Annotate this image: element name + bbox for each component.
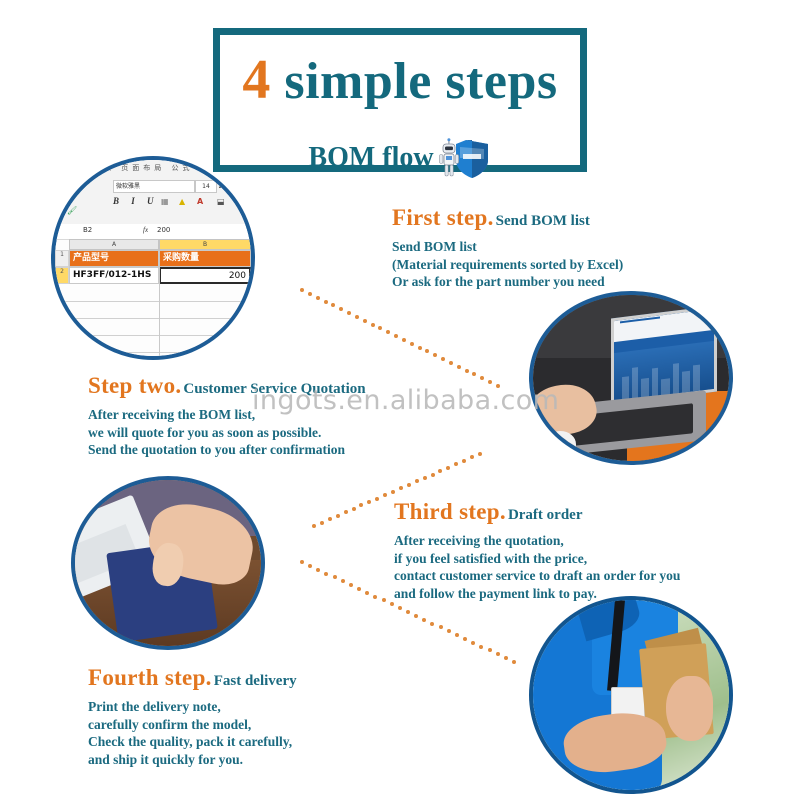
step-one-line-1: Send BOM list xyxy=(392,238,623,256)
connector-dot xyxy=(394,334,398,338)
connector-dot xyxy=(422,618,426,622)
title-subtitle-text: BOM flow xyxy=(308,141,433,175)
connector-dot xyxy=(312,524,316,528)
connector-dot xyxy=(446,466,450,470)
excel-row-number-1[interactable]: 1 xyxy=(55,250,69,267)
connector-dot xyxy=(463,637,467,641)
step-one-subtitle: Send BOM list xyxy=(496,213,590,229)
excel-grow-font-icon[interactable]: A xyxy=(219,181,225,190)
laptop-screen xyxy=(611,305,717,404)
connector-dot xyxy=(347,311,351,315)
site-watermark: ingots.en.alibaba.com xyxy=(252,385,559,416)
connector-dot xyxy=(382,598,386,602)
connector-dot xyxy=(355,315,359,319)
connector-dot xyxy=(308,564,312,568)
poster-canvas: 4 simple steps BOM flow xyxy=(0,0,800,800)
connector-dot xyxy=(406,610,410,614)
excel-font-size-input[interactable]: 14 xyxy=(195,180,217,193)
connector-dot xyxy=(488,380,492,384)
step-four-block: Fourth step. Fast delivery Print the del… xyxy=(88,666,297,768)
excel-cell-a1[interactable]: 产品型号 xyxy=(69,250,159,267)
connector-dot xyxy=(316,568,320,572)
connector-dot xyxy=(414,614,418,618)
step-four-line-2: carefully confirm the model, xyxy=(88,716,297,734)
step-one-heading: First step. Send BOM list xyxy=(392,206,623,229)
connector-dot xyxy=(449,361,453,365)
connector-dot xyxy=(328,517,332,521)
excel-formula-bar: B2 fx 200 xyxy=(55,224,251,240)
connector-dot xyxy=(331,303,335,307)
step-four-line-3: Check the quality, pack it carefully, xyxy=(88,733,297,751)
connector-dot xyxy=(365,591,369,595)
connector-dot xyxy=(430,622,434,626)
connector-dot xyxy=(441,357,445,361)
connector-dot xyxy=(357,587,361,591)
courier-hand xyxy=(666,676,713,741)
connector-dot xyxy=(378,326,382,330)
step-four-line-4: and ship it quickly for you. xyxy=(88,751,297,769)
connector-dot xyxy=(373,595,377,599)
connector-dot xyxy=(438,469,442,473)
step-one-block: First step. Send BOM list Send BOM list … xyxy=(392,206,623,291)
connector-dot xyxy=(391,490,395,494)
excel-empty-row[interactable] xyxy=(55,284,251,302)
connector-dot xyxy=(324,572,328,576)
connector-step1-to-step2 xyxy=(300,288,530,398)
hands-typing-on-laptop-photo xyxy=(533,295,729,461)
excel-ribbon: 插入 页面布局 公式 数据 ✂ ⧉ 🖌 微软雅黑 14 A A B I U ▦ … xyxy=(55,160,251,225)
connector-dot xyxy=(341,579,345,583)
excel-merge-icon[interactable]: ⬓ xyxy=(217,197,225,206)
connector-dot xyxy=(383,493,387,497)
excel-row-number-2[interactable]: 2 xyxy=(55,267,69,284)
excel-name-box[interactable]: B2 xyxy=(83,226,92,234)
coffee-cup xyxy=(545,431,576,458)
step-four-heading: Fourth step. Fast delivery xyxy=(88,666,297,689)
connector-dot xyxy=(439,625,443,629)
connector-dot xyxy=(496,652,500,656)
connector-dot xyxy=(512,660,516,664)
connector-dot xyxy=(407,483,411,487)
connector-dot xyxy=(425,349,429,353)
connector-dot xyxy=(320,521,324,525)
excel-empty-row[interactable] xyxy=(55,301,251,319)
connector-step3-to-step4 xyxy=(300,560,540,670)
connector-dot xyxy=(300,288,304,292)
excel-column-headers: A B xyxy=(55,239,251,250)
excel-ribbon-tabs[interactable]: 插入 页面布局 公式 数据 xyxy=(93,163,222,173)
connector-dot xyxy=(333,575,337,579)
excel-column-header-a[interactable]: A xyxy=(69,239,159,250)
excel-ribbon-body: ✂ ⧉ 🖌 微软雅黑 14 A A B I U ▦ ▲ A ⬓ ≡ xyxy=(67,176,247,214)
title-subtitle: BOM flow xyxy=(213,135,587,181)
connector-dot xyxy=(472,372,476,376)
connector-dot xyxy=(410,342,414,346)
excel-window: 插入 页面布局 公式 数据 ✂ ⧉ 🖌 微软雅黑 14 A A B I U ▦ … xyxy=(55,160,251,356)
excel-cell-b2[interactable]: 200 xyxy=(159,267,251,284)
excel-column-header-b[interactable]: B xyxy=(159,239,251,250)
robot-shield-icon xyxy=(436,135,492,181)
connector-dot xyxy=(471,641,475,645)
step-four-subtitle: Fast delivery xyxy=(214,673,297,689)
step-three-subtitle: Draft order xyxy=(508,507,583,523)
connector-dot xyxy=(455,633,459,637)
connector-dot xyxy=(367,500,371,504)
excel-fill-color-icon[interactable]: ▲ xyxy=(179,197,185,206)
connector-dot xyxy=(457,365,461,369)
page-title: 4 simple steps xyxy=(213,52,587,110)
delivery-scene xyxy=(533,600,729,790)
connector-dot xyxy=(375,497,379,501)
connector-dot xyxy=(339,307,343,311)
title-main-text: simple steps xyxy=(284,53,557,110)
excel-formula-input[interactable]: 200 xyxy=(157,226,170,234)
connector-dot xyxy=(418,346,422,350)
connector-dot xyxy=(402,338,406,342)
connector-dot xyxy=(349,583,353,587)
connector-dot xyxy=(470,455,474,459)
title-number: 4 xyxy=(242,49,271,111)
connector-dot xyxy=(352,507,356,511)
connector-dot xyxy=(504,656,508,660)
connector-dot xyxy=(300,560,304,564)
excel-fx-icon[interactable]: fx xyxy=(143,226,148,234)
connector-dot xyxy=(399,486,403,490)
connector-dot xyxy=(480,376,484,380)
connector-dot xyxy=(308,292,312,296)
excel-align-icon[interactable]: ≡ xyxy=(241,196,248,205)
excel-bom-spreadsheet-photo: 插入 页面布局 公式 数据 ✂ ⧉ 🖌 微软雅黑 14 A A B I U ▦ … xyxy=(55,160,251,356)
connector-dot xyxy=(454,462,458,466)
connector-dot xyxy=(488,648,492,652)
connector-dot xyxy=(344,510,348,514)
connector-dot xyxy=(465,369,469,373)
step-one-line-2: (Material requirements sorted by Excel) xyxy=(392,256,623,274)
hand-on-blue-card-photo xyxy=(75,480,261,646)
excel-shrink-font-icon[interactable]: A xyxy=(231,182,236,191)
connector-dot xyxy=(415,479,419,483)
excel-cell-a2[interactable]: HF3FF/012-1HS xyxy=(69,267,159,284)
connector-dot xyxy=(371,323,375,327)
excel-cell-b1[interactable]: 采购数量 xyxy=(159,250,251,267)
connector-dot xyxy=(363,319,367,323)
excel-data-row: 2 HF3FF/012-1HS 200 xyxy=(55,267,251,284)
delivery-courier-holding-box-photo xyxy=(533,600,729,790)
connector-dot xyxy=(479,645,483,649)
excel-copy-icon[interactable]: ⧉ xyxy=(67,194,73,204)
excel-bold-italic-underline-buttons[interactable]: B I U xyxy=(113,196,159,206)
laptop-website-logo xyxy=(620,317,660,324)
excel-paste-icon[interactable]: ✂ xyxy=(67,182,74,191)
connector-step2-to-step3 xyxy=(312,452,512,532)
connector-dot xyxy=(478,452,482,456)
connector-dot xyxy=(398,606,402,610)
step-four-lead: Fourth step. xyxy=(88,665,212,690)
step-three-line-1: After receiving the quotation, xyxy=(394,532,680,550)
excel-column-divider xyxy=(159,267,160,356)
connector-dot xyxy=(433,353,437,357)
connector-dot xyxy=(336,514,340,518)
laptop-scene xyxy=(533,295,729,461)
step-one-lead: First step. xyxy=(392,205,494,230)
hand-card-scene xyxy=(75,480,261,646)
connector-dot xyxy=(447,629,451,633)
connector-dot xyxy=(359,503,363,507)
connector-dot xyxy=(324,300,328,304)
connector-dot xyxy=(390,602,394,606)
connector-dot xyxy=(423,476,427,480)
excel-font-color-icon[interactable]: A xyxy=(197,197,203,206)
step-two-line-2: we will quote for you as soon as possibl… xyxy=(88,424,366,442)
step-four-line-1: Print the delivery note, xyxy=(88,698,297,716)
excel-header-row: 1 产品型号 采购数量 xyxy=(55,250,251,267)
excel-empty-row[interactable] xyxy=(55,318,251,336)
step-two-lead: Step two. xyxy=(88,373,181,398)
connector-dot xyxy=(386,330,390,334)
excel-font-name-input[interactable]: 微软雅黑 xyxy=(113,180,195,193)
connector-dot xyxy=(316,296,320,300)
connector-dot xyxy=(462,459,466,463)
connector-dot xyxy=(431,473,435,477)
excel-format-painter-icon[interactable]: 🖌 xyxy=(67,206,77,215)
excel-empty-row[interactable] xyxy=(55,335,251,353)
excel-borders-icon[interactable]: ▦ xyxy=(161,197,169,206)
